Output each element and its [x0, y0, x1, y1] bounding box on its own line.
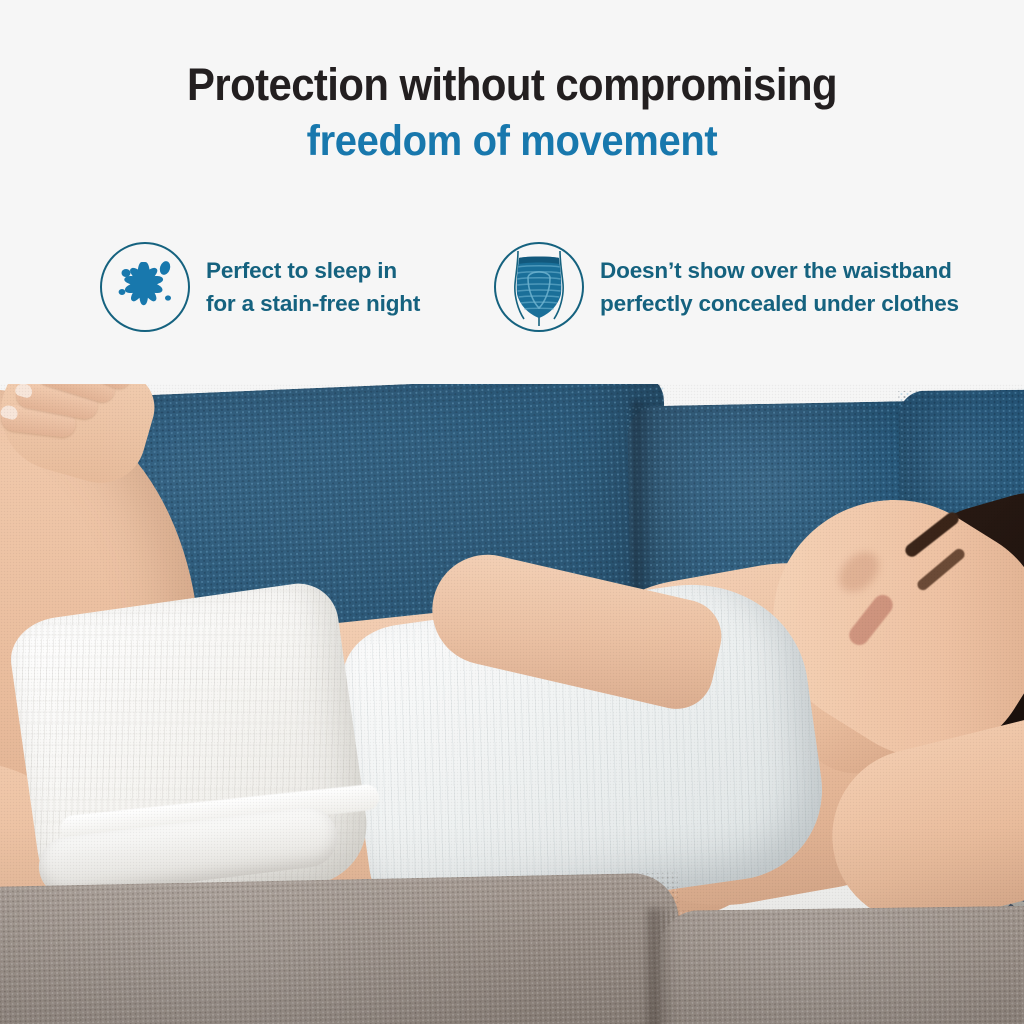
page-title: Protection without compromising freedom … [0, 62, 1024, 163]
feature-list: Perfect to sleep in for a stain-free nig… [0, 240, 1024, 350]
header-panel: Protection without compromising freedom … [0, 0, 1024, 384]
product-feature-poster: Protection without compromising freedom … [0, 0, 1024, 1024]
underwear-icon [492, 240, 586, 334]
feature-discreet-line-1: Doesn’t show over the waistband [600, 254, 959, 287]
sofa-scene [0, 360, 1024, 1024]
sofa-seat-cushion-left [0, 872, 682, 1024]
feature-sleep-line-1: Perfect to sleep in [206, 254, 420, 287]
feature-item-discreet-text: Doesn’t show over the waistband perfectl… [600, 254, 959, 320]
lifestyle-photo [0, 360, 1024, 1024]
seat-seam [648, 908, 674, 1024]
feature-sleep-line-2: for a stain-free night [206, 287, 420, 320]
feature-item-sleep: Perfect to sleep in for a stain-free nig… [98, 240, 420, 334]
splash-icon [98, 240, 192, 334]
headline-line-1: Protection without compromising [36, 62, 988, 107]
feature-discreet-line-2: perfectly concealed under clothes [600, 287, 959, 320]
headline-line-2: freedom of movement [36, 120, 988, 163]
feature-item-discreet: Doesn’t show over the waistband perfectl… [492, 240, 959, 334]
feature-item-sleep-text: Perfect to sleep in for a stain-free nig… [206, 254, 420, 320]
sofa-seat-cushion-right [659, 905, 1024, 1024]
